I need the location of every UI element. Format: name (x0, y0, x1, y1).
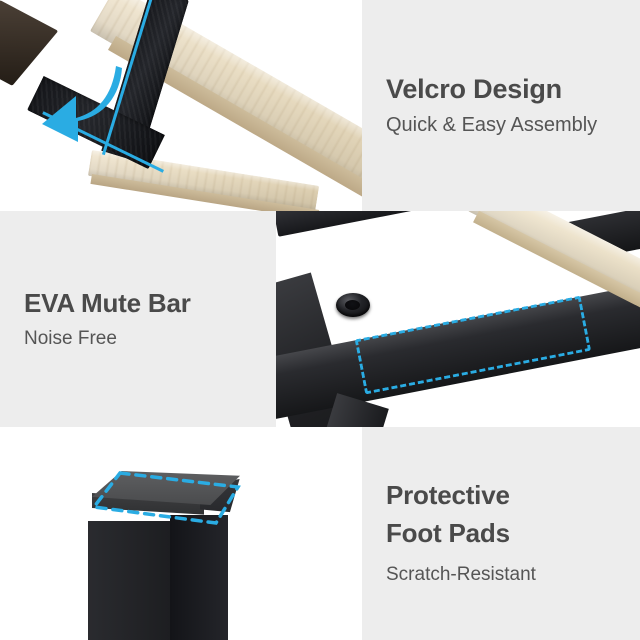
velcro-design-title: Velcro Design (386, 74, 640, 105)
protective-foot-pads-title-line-2: Foot Pads (386, 518, 640, 548)
peel-direction-arrow-icon (38, 62, 122, 142)
eva-mute-bar-subtitle: Noise Free (24, 328, 276, 351)
eva-mute-bar-text-panel: EVA Mute Bar Noise Free (0, 211, 276, 427)
velcro-design-subtitle: Quick & Easy Assembly (386, 113, 640, 137)
foot-pad-dashed-highlight (88, 467, 244, 527)
protective-foot-pads-subtitle: Scratch-Resistant (386, 564, 640, 587)
leg-post-left-face (88, 521, 170, 640)
feature-infographic: Velcro Design Quick & Easy Assembly EVA … (0, 0, 640, 640)
leg-post-right-face (170, 515, 228, 640)
velcro-design-photo (0, 0, 362, 211)
velcro-design-text-panel: Velcro Design Quick & Easy Assembly (362, 0, 640, 211)
protective-foot-pads-text-panel: Protective Foot Pads Scratch-Resistant (362, 427, 640, 640)
eva-mute-bar-photo (276, 211, 640, 427)
knob-fastener-icon (336, 293, 370, 317)
protective-foot-pads-photo (0, 427, 362, 640)
eva-mute-strip (276, 211, 475, 237)
eva-mute-bar-title: EVA Mute Bar (24, 288, 276, 318)
protective-foot-pads-title-line-1: Protective (386, 480, 640, 510)
